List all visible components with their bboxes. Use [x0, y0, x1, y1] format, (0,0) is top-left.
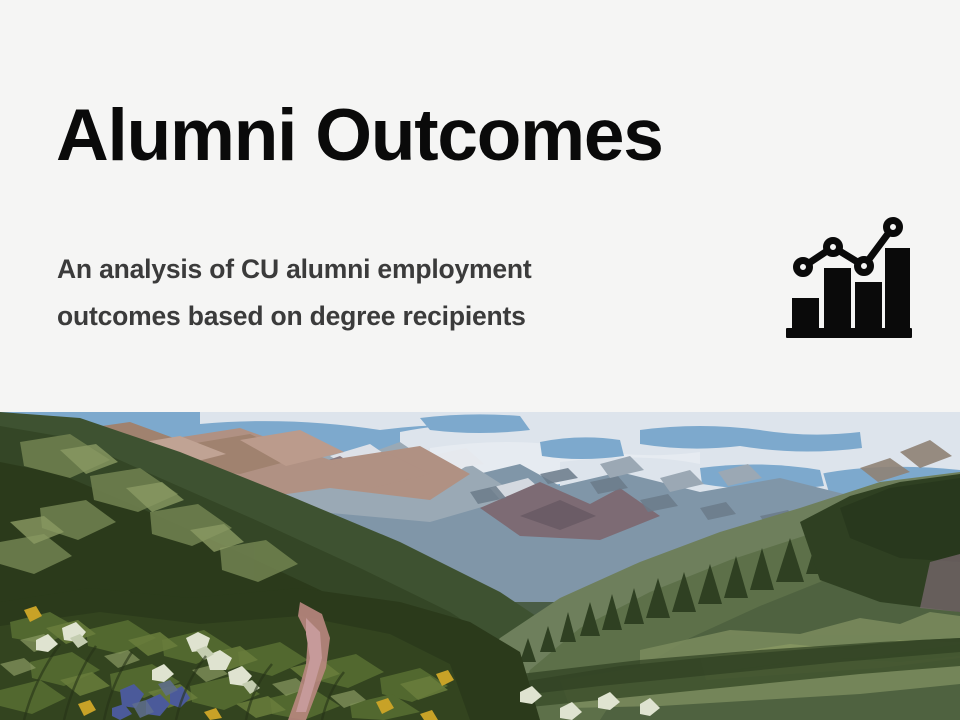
page-subtitle: An analysis of CU alumni employment outc… — [57, 246, 677, 340]
header-panel: Alumni Outcomes An analysis of CU alumni… — [0, 0, 960, 412]
subtitle-line-1: An analysis of CU alumni employment — [57, 254, 532, 284]
slide-root: Alumni Outcomes An analysis of CU alumni… — [0, 0, 960, 720]
page-title: Alumni Outcomes — [56, 99, 663, 172]
subtitle-line-2: outcomes based on degree recipients — [57, 301, 526, 331]
bar-chart-trend-icon — [784, 210, 914, 345]
mountain-valley-landscape-image — [0, 412, 960, 720]
